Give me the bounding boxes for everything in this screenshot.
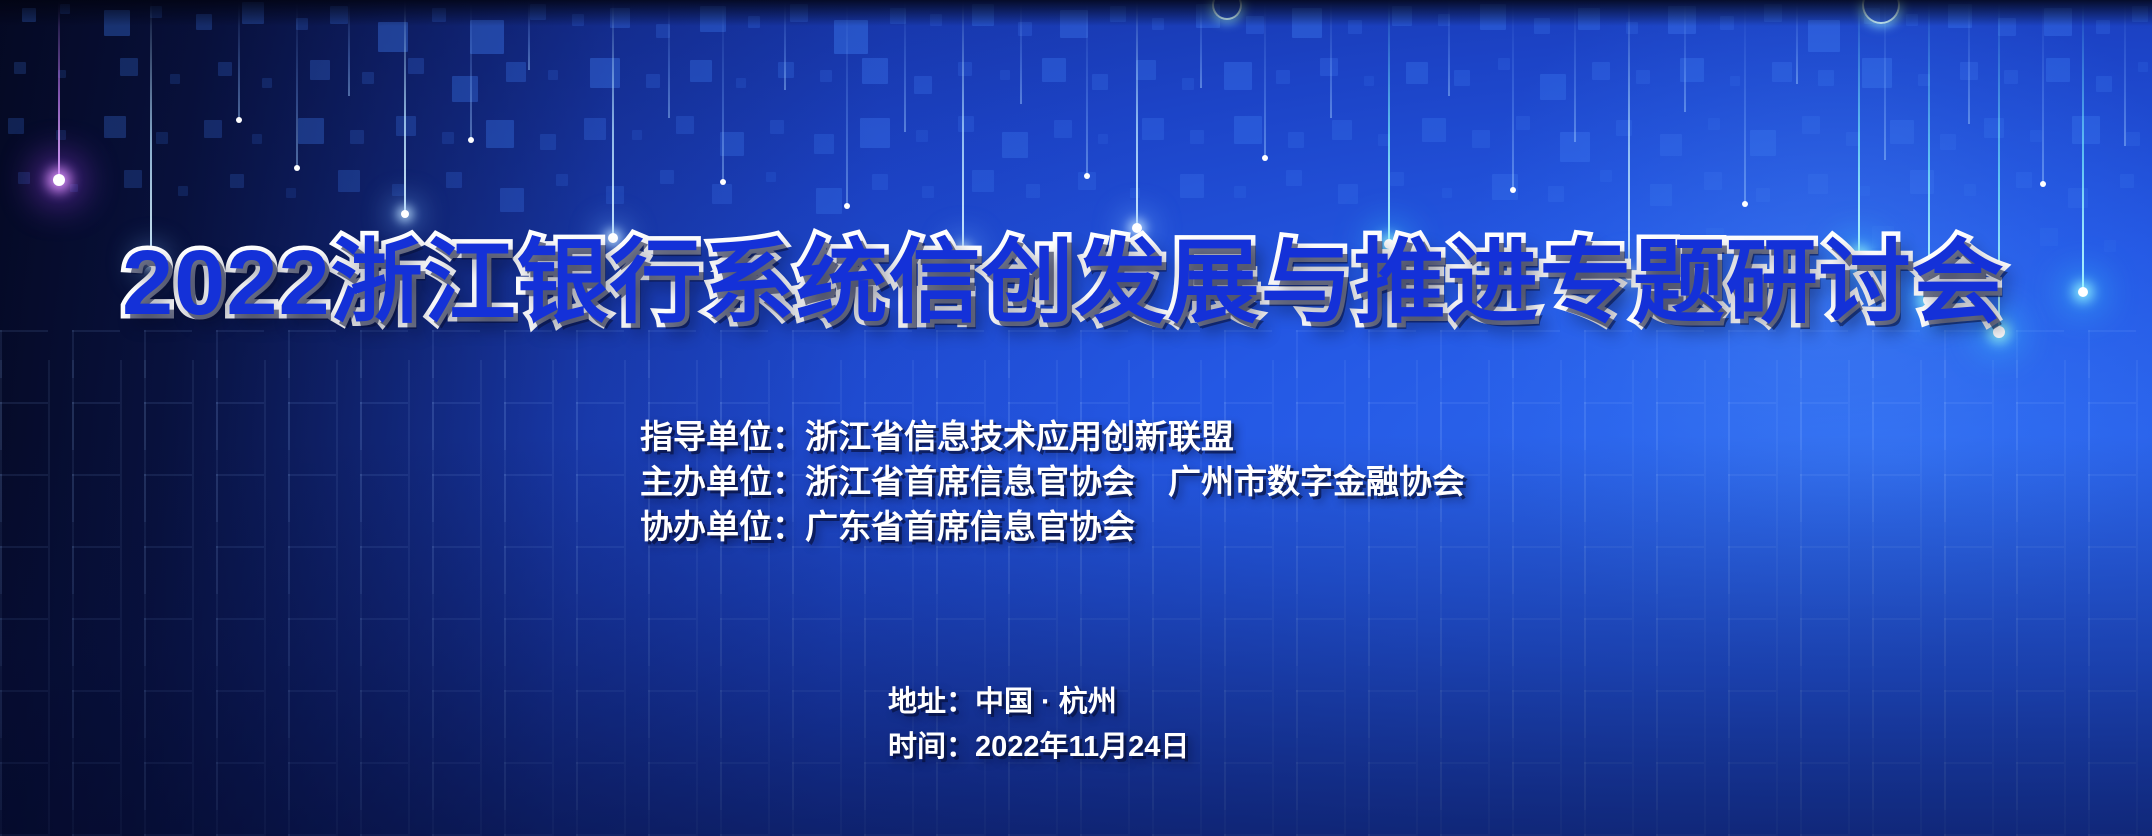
organizer-line-host: 主办单位：浙江省首席信息官协会 广州市数字金融协会 <box>640 459 1465 504</box>
page-title: 2022浙江银行系统信创发展与推进专题研讨会 <box>122 208 2005 341</box>
organizer-line-guidance: 指导单位：浙江省信息技术应用创新联盟 <box>640 414 1465 459</box>
event-meta: 地址：中国 · 杭州 时间：2022年11月24日 <box>888 680 1189 770</box>
poster-canvas: 2022浙江银行系统信创发展与推进专题研讨会 指导单位：浙江省信息技术应用创新联… <box>0 0 2152 836</box>
organizer-line-cohost: 协办单位：广东省首席信息官协会 <box>640 504 1465 549</box>
poster-content: 2022浙江银行系统信创发展与推进专题研讨会 指导单位：浙江省信息技术应用创新联… <box>0 0 2152 836</box>
event-date: 时间：2022年11月24日 <box>888 725 1189 770</box>
event-location: 地址：中国 · 杭州 <box>888 680 1189 725</box>
organizer-list: 指导单位：浙江省信息技术应用创新联盟 主办单位：浙江省首席信息官协会 广州市数字… <box>640 414 1465 549</box>
